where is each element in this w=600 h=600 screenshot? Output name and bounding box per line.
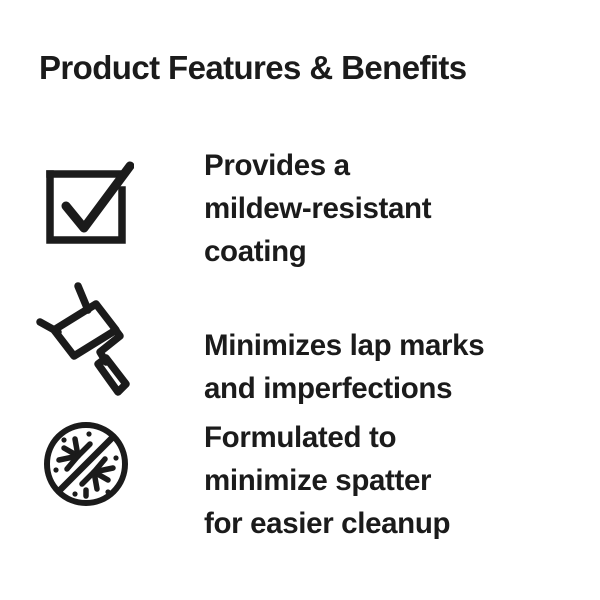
feature-text-line: Formulated to xyxy=(204,416,600,459)
checkbox-check-icon xyxy=(38,158,134,246)
feature-text: Provides a mildew-resistant coating xyxy=(204,140,600,273)
feature-text-line: coating xyxy=(204,230,600,273)
feature-text-line: minimize spatter xyxy=(204,459,600,502)
feature-icon-cell xyxy=(0,410,204,508)
feature-text-line: for easier cleanup xyxy=(204,502,600,545)
feature-text-line: mildew-resistant xyxy=(204,187,600,230)
feature-item-minimize-spatter: Formulated to minimize spatter for easie… xyxy=(0,410,600,540)
page-title: Product Features & Benefits xyxy=(39,48,467,88)
feature-text: Formulated to minimize spatter for easie… xyxy=(204,410,600,545)
feature-text: Minimizes lap marks and imperfections xyxy=(204,268,600,410)
feature-list: Provides a mildew-resistant coating xyxy=(0,140,600,540)
feature-text-line: Minimizes lap marks xyxy=(204,324,600,367)
feature-item-mildew-resistant: Provides a mildew-resistant coating xyxy=(0,140,600,268)
paint-roller-icon xyxy=(34,278,138,398)
feature-text-line: and imperfections xyxy=(204,367,600,410)
product-features-panel: Product Features & Benefits Provides a m… xyxy=(0,0,600,600)
feature-text-line: Provides a xyxy=(204,144,600,187)
feature-item-lap-marks: Minimizes lap marks and imperfections xyxy=(0,268,600,410)
feature-icon-cell xyxy=(0,140,204,246)
feature-icon-cell xyxy=(0,268,204,398)
no-spatter-icon xyxy=(42,420,130,508)
